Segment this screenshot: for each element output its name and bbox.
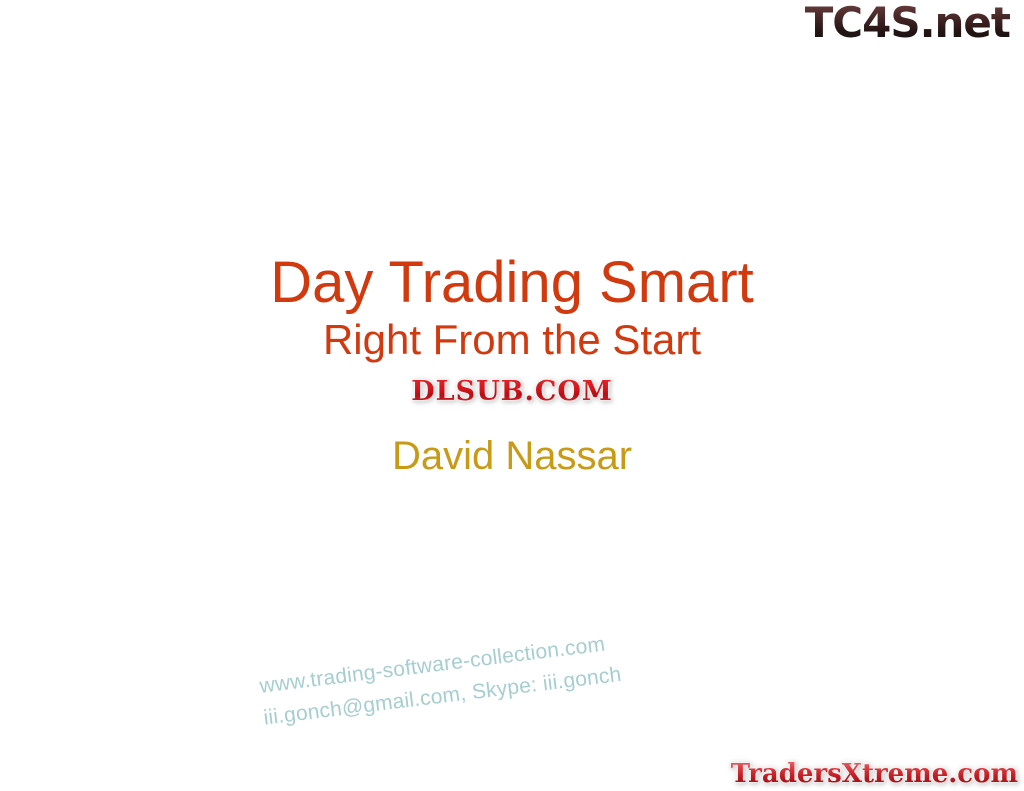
dlsub-watermark-logo: DLSUB.COM bbox=[411, 378, 613, 405]
page-subtitle: Right From the Start bbox=[0, 317, 1024, 363]
tradersxtreme-brand-logo: TradersXtreme.com bbox=[731, 761, 1018, 787]
tc4s-brand-logo: TC4S.net bbox=[805, 2, 1010, 44]
page-title: Day Trading Smart bbox=[0, 252, 1024, 315]
presentation-slide: TC4S.net Day Trading Smart Right From th… bbox=[0, 0, 1024, 791]
site-watermark: www.trading-software-collection.com iii.… bbox=[258, 628, 623, 733]
title-block: Day Trading Smart Right From the Start bbox=[0, 252, 1024, 363]
author-name: David Nassar bbox=[0, 434, 1024, 478]
